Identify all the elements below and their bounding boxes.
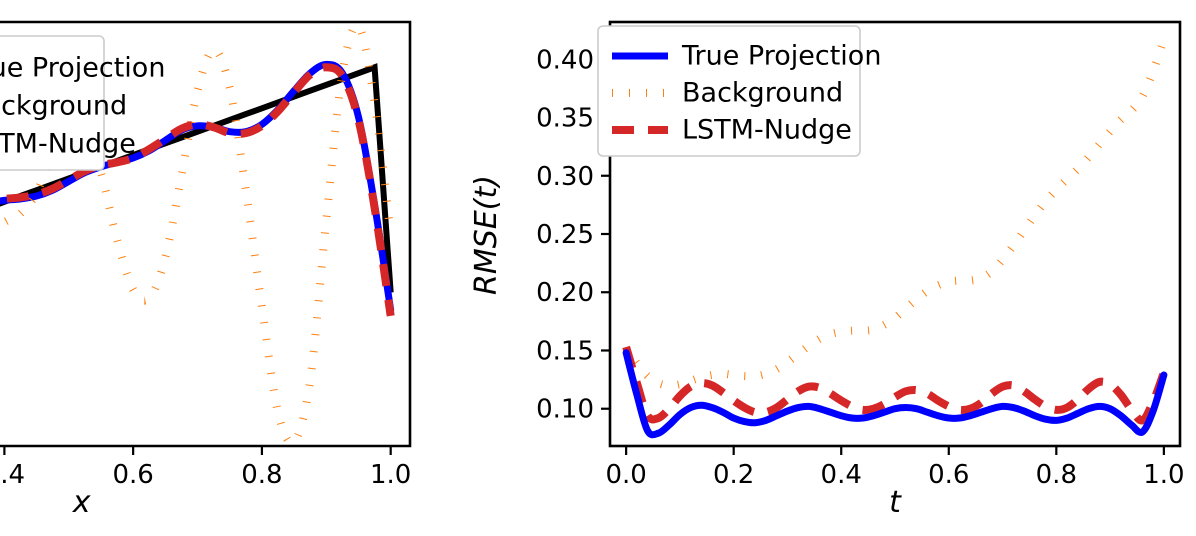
left-x-tick-label: 1.0 xyxy=(370,460,411,490)
right-legend-label: LSTM-Nudge xyxy=(682,115,852,146)
figure-canvas: 0.40.60.81.0 True ProjectionBackgroundLS… xyxy=(0,0,1196,536)
left-x-tick-label: 0.8 xyxy=(241,460,282,490)
right-x-tick-label: 0.8 xyxy=(1036,460,1077,490)
panel-right: 0.00.20.40.60.81.0 0.100.150.200.250.300… xyxy=(470,0,1196,536)
left-plot-svg: 0.40.60.81.0 True ProjectionBackgroundLS… xyxy=(0,0,470,536)
left-legend-label: True Projection xyxy=(0,53,165,84)
right-y-tick-label: 0.25 xyxy=(536,220,594,250)
right-plot-svg: 0.00.20.40.60.81.0 0.100.150.200.250.300… xyxy=(470,0,1196,536)
left-x-tick-label: 0.4 xyxy=(0,460,25,490)
right-x-tick-label: 0.2 xyxy=(713,460,754,490)
right-y-tick-label: 0.40 xyxy=(536,45,594,75)
left-x-tick-group: 0.40.60.81.0 xyxy=(0,446,411,490)
right-x-tick-label: 0.6 xyxy=(928,460,969,490)
right-y-tick-label: 0.15 xyxy=(536,336,594,366)
right-y-axis-label: RMSE(t) xyxy=(470,175,504,295)
panel-left: 0.40.60.81.0 True ProjectionBackgroundLS… xyxy=(0,0,470,536)
right-x-tick-group: 0.00.20.40.60.81.0 xyxy=(605,446,1184,490)
right-y-tick-label: 0.35 xyxy=(536,104,594,134)
left-x-tick-label: 0.6 xyxy=(112,460,153,490)
right-x-tick-label: 0.4 xyxy=(821,460,862,490)
right-x-tick-label: 0.0 xyxy=(605,460,646,490)
right-y-tick-label: 0.20 xyxy=(536,278,594,308)
right-x-axis-label: t xyxy=(889,485,902,520)
right-x-tick-label: 1.0 xyxy=(1143,460,1184,490)
right-legend-label: True Projection xyxy=(681,41,881,72)
left-legend-label: LSTM-Nudge xyxy=(0,129,136,160)
right-y-tick-label: 0.10 xyxy=(536,395,594,425)
right-legend-label: Background xyxy=(682,78,843,109)
right-legend: True ProjectionBackgroundLSTM-Nudge xyxy=(598,26,881,156)
left-legend-label: Background xyxy=(0,91,127,122)
left-x-axis-label: x xyxy=(72,485,91,520)
right-y-tick-label: 0.30 xyxy=(536,162,594,192)
